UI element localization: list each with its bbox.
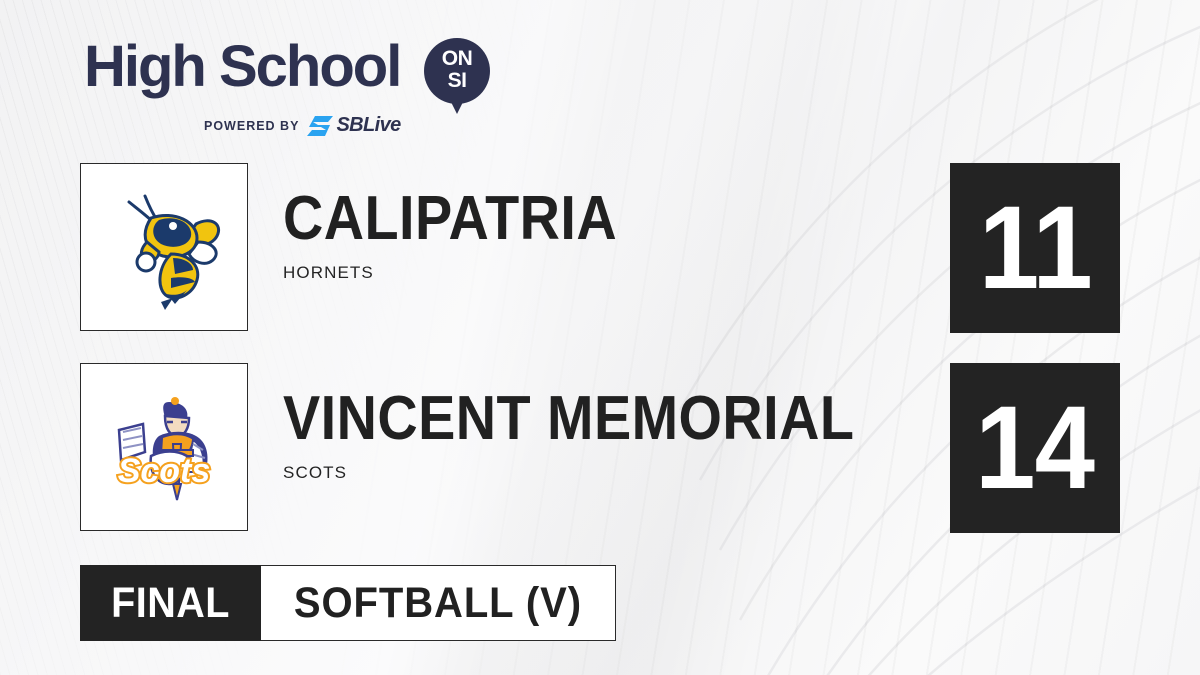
sport-panel: SOFTBALL (V) bbox=[261, 565, 616, 641]
sblive-chevron-icon bbox=[307, 116, 333, 136]
team-score: 14 bbox=[976, 389, 1095, 507]
sblive-logo: SBLive bbox=[307, 114, 400, 137]
pin-text-line2: SI bbox=[424, 70, 490, 92]
team-text-block: CALIPATRIA HORNETS bbox=[283, 187, 654, 283]
svg-text:Scots: Scots bbox=[118, 452, 211, 490]
team-text-block: VINCENT MEMORIAL SCOTS bbox=[283, 387, 918, 483]
on-si-pin-icon: ON SI bbox=[424, 38, 490, 116]
game-status-badge: FINAL bbox=[80, 565, 261, 641]
brand-header: High School ON SI POWERED BY SBLive bbox=[84, 36, 514, 136]
scots-highlander-logo-icon: Scots bbox=[101, 384, 227, 510]
team-mascot: HORNETS bbox=[283, 263, 654, 283]
scoreboard-graphic: High School ON SI POWERED BY SBLive bbox=[0, 0, 1200, 675]
team-mascot: SCOTS bbox=[283, 463, 918, 483]
team-score: 11 bbox=[979, 189, 1092, 307]
team-logo-box bbox=[80, 163, 248, 331]
team-score-box: 14 bbox=[950, 363, 1120, 533]
hornet-mascot-logo-icon bbox=[101, 184, 227, 310]
team-score-box: 11 bbox=[950, 163, 1120, 333]
brand-title: High School bbox=[84, 36, 400, 98]
pin-text-line1: ON bbox=[424, 48, 490, 70]
powered-by-row: POWERED BY SBLive bbox=[204, 114, 401, 137]
game-status-label: FINAL bbox=[111, 579, 230, 628]
powered-by-label: POWERED BY bbox=[204, 119, 299, 133]
team-name: CALIPATRIA bbox=[283, 187, 617, 251]
sblive-wordmark: SBLive bbox=[336, 114, 400, 137]
team-logo-box: Scots bbox=[80, 363, 248, 531]
status-bar: FINAL SOFTBALL (V) bbox=[80, 565, 616, 641]
sport-label: SOFTBALL (V) bbox=[294, 579, 582, 628]
team-name: VINCENT MEMORIAL bbox=[283, 387, 854, 451]
pin-text: ON SI bbox=[424, 48, 490, 92]
